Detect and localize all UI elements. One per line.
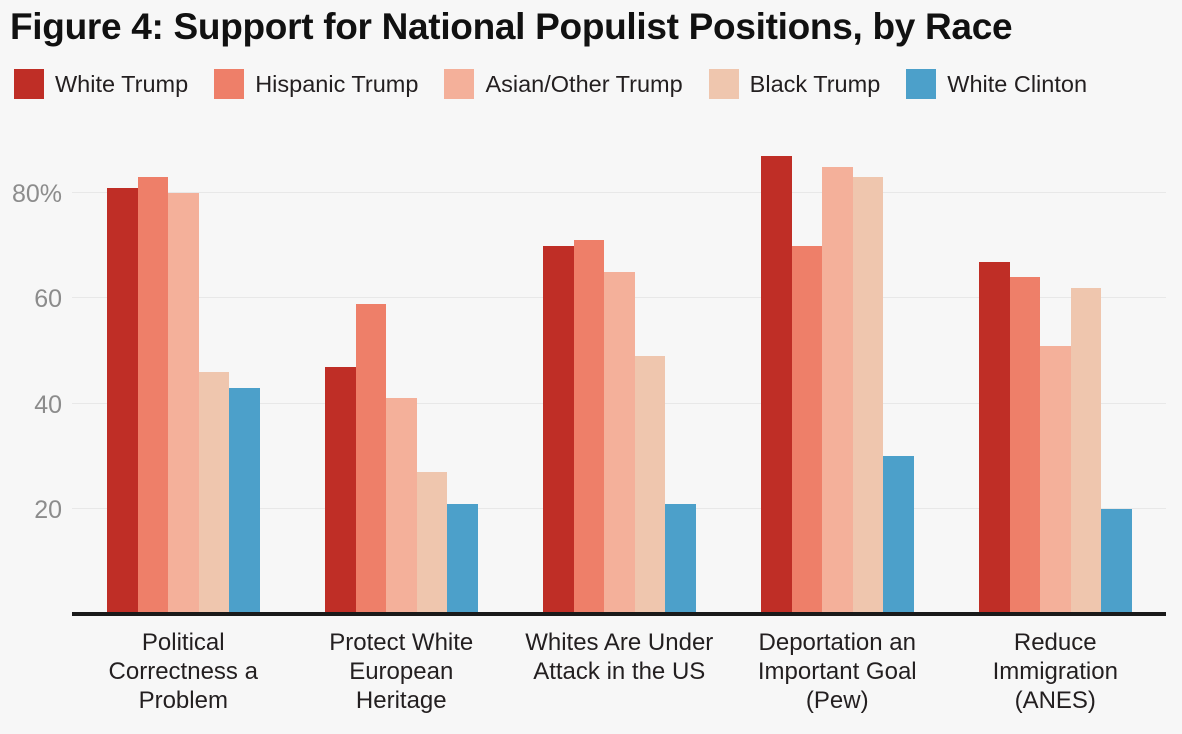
bar[interactable] [665,504,696,614]
bar[interactable] [853,177,884,614]
bar[interactable] [447,504,478,614]
bar[interactable] [761,156,792,614]
bar[interactable] [635,356,666,614]
y-axis-tick-label: 60 [34,285,62,314]
bar[interactable] [107,188,138,614]
bar[interactable] [792,246,823,614]
x-axis-category-label: Reduce Immigration (ANES) [925,628,1182,715]
bar[interactable] [543,246,574,614]
bar[interactable] [1101,509,1132,614]
bar[interactable] [574,240,605,614]
bar[interactable] [325,367,356,614]
bar[interactable] [604,272,635,614]
y-axis-tick-label: 80% [12,180,62,209]
y-axis-tick-label: 40 [34,391,62,420]
bar-group [107,130,260,614]
y-axis-tick-label: 20 [34,496,62,525]
bar[interactable] [356,304,387,614]
bar[interactable] [1040,346,1071,614]
bar-group [979,130,1132,614]
chart-plot-area: 20406080% Political Correctness a Proble… [0,0,1182,734]
bar[interactable] [138,177,169,614]
bar[interactable] [1010,277,1041,614]
bar-group [543,130,696,614]
bar[interactable] [229,388,260,614]
bar-group [761,130,914,614]
bar-group [325,130,478,614]
bar[interactable] [417,472,448,614]
plot-inner [72,130,1166,614]
bar[interactable] [168,193,199,614]
bar[interactable] [822,167,853,614]
x-axis-line [72,612,1166,616]
bar[interactable] [199,372,230,614]
bar[interactable] [386,398,417,614]
bar[interactable] [1071,288,1102,614]
bar[interactable] [979,262,1010,614]
y-axis-tick-labels: 20406080% [0,130,62,614]
bar[interactable] [883,456,914,614]
